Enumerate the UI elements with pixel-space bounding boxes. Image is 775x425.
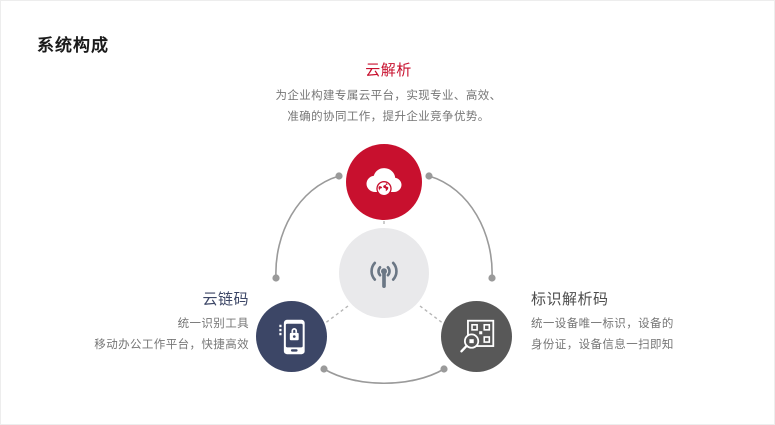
idcode-heading: 标识解析码 — [531, 288, 674, 309]
cloud-globe-icon — [364, 165, 404, 199]
idcode-text-block: 标识解析码 统一设备唯一标识，设备的 身份证，设备信息一扫即知 — [531, 288, 674, 356]
spoke-center-to-chain — [324, 306, 348, 324]
node-chain-code[interactable] — [256, 301, 327, 372]
cloud-desc-line-2: 准确的协同工作，提升企业竞争优势。 — [1, 107, 775, 128]
arc-dot-idcode-top — [488, 274, 495, 281]
cloud-desc-line-1: 为企业构建专属云平台，实现专业、高效、 — [1, 86, 775, 107]
center-hub-node[interactable] — [339, 228, 429, 318]
system-composition-diagram — [226, 126, 541, 401]
idcode-desc-line-1: 统一设备唯一标识，设备的 — [531, 314, 674, 335]
node-identification-code[interactable] — [441, 301, 512, 372]
idcode-desc-line-2: 身份证，设备信息一扫即知 — [531, 335, 674, 356]
arc-dot-chain-top — [272, 274, 279, 281]
arc-dot-cloud-right — [425, 172, 432, 179]
mobile-lock-icon — [276, 318, 308, 356]
broadcast-signal-icon — [363, 252, 405, 294]
slide-canvas: 系统构成 云解析 为企业构建专属云平台，实现专业、高效、 准确的协同工作，提升企… — [0, 0, 775, 425]
arc-dot-cloud-left — [335, 172, 342, 179]
arc-chain-to-idcode — [324, 369, 444, 383]
cloud-heading: 云解析 — [1, 59, 775, 80]
qrcode-search-icon — [458, 318, 496, 356]
arc-cloud-to-chain — [276, 176, 339, 278]
arc-cloud-to-idcode — [429, 176, 492, 278]
arc-dot-idcode-bottom — [440, 365, 447, 372]
arc-dot-chain-bottom — [320, 365, 327, 372]
spoke-center-to-idcode — [420, 306, 444, 324]
cloud-text-block: 云解析 为企业构建专属云平台，实现专业、高效、 准确的协同工作，提升企业竞争优势… — [1, 59, 775, 128]
node-cloud-analysis[interactable] — [346, 144, 422, 220]
page-title: 系统构成 — [37, 31, 109, 56]
